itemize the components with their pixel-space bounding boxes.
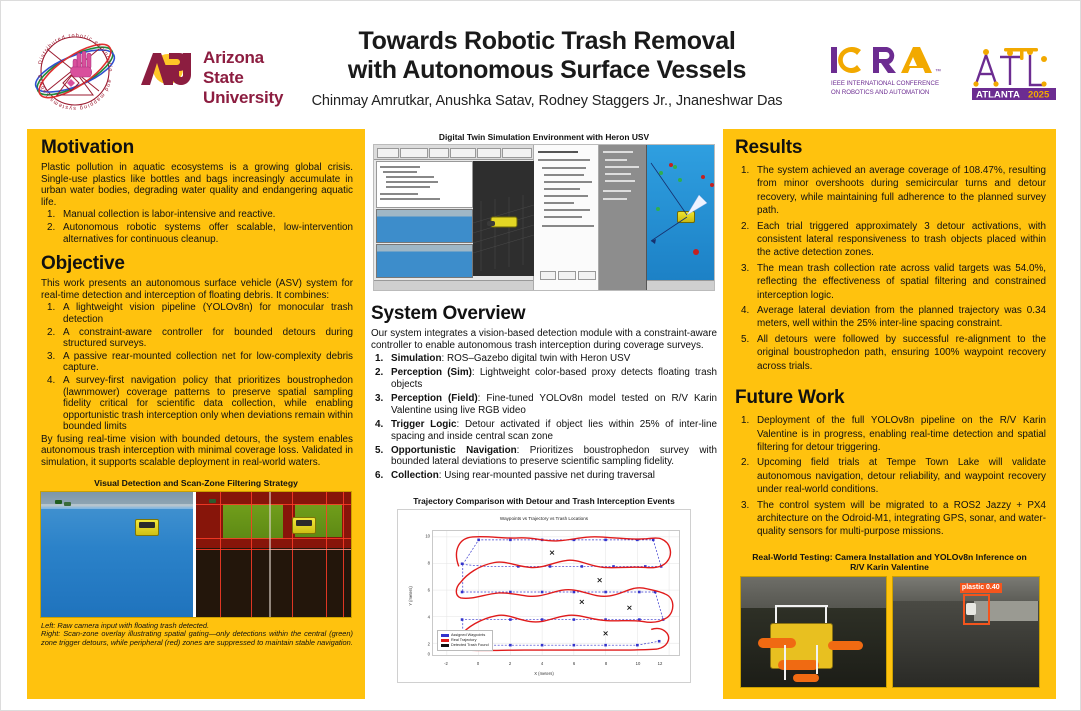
- legend-entry: Detected Trash Found: [441, 643, 489, 648]
- list-item: A lightweight vision pipeline (YOLOv8n) …: [41, 302, 353, 325]
- y-tick: 2: [414, 642, 430, 647]
- sim-figure-caption: Digital Twin Simulation Environment with…: [367, 132, 721, 142]
- atlanta-label: ATLANTA: [976, 89, 1020, 100]
- icra-subtitle-line1: IEEE INTERNATIONAL CONFERENCE: [831, 80, 939, 87]
- y-tick: 6: [414, 588, 430, 593]
- central-green-zone: [223, 504, 282, 539]
- item-label: Collection: [391, 470, 439, 481]
- right-column: Results The system achieved an average c…: [723, 129, 1056, 699]
- list-item: Trigger Logic: Detour activated if objec…: [371, 419, 717, 443]
- list-item: The system achieved an average coverage …: [735, 164, 1046, 218]
- panel-button[interactable]: [558, 271, 576, 280]
- x-tick: 10: [636, 661, 641, 666]
- trash-dot: [64, 502, 71, 506]
- grid-line: [343, 492, 344, 617]
- toolbar-chip: [429, 148, 449, 158]
- chart-ylabel: Y (meters): [408, 587, 413, 606]
- rviz-displays-tree: [376, 161, 473, 208]
- list-item: Deployment of the full YOLOv8n pipeline …: [735, 414, 1046, 454]
- item-label: Trigger Logic: [391, 419, 457, 430]
- detected-trash-object: [135, 519, 159, 536]
- support-strut: [816, 645, 818, 674]
- poster-canvas: Distributed robotic exploration and mapp…: [0, 0, 1081, 711]
- detection-label: plastic 0.40: [960, 583, 1002, 593]
- camera-view-2: [376, 244, 473, 278]
- rviz-status-bar: [374, 280, 533, 290]
- item-label: Perception (Field): [391, 393, 478, 404]
- list-item: A passive rear-mounted collection net fo…: [41, 351, 353, 374]
- future-work-list: Deployment of the full YOLOv8n pipeline …: [735, 414, 1046, 539]
- y-tick: 0: [414, 652, 430, 657]
- trajectory-chart: Waypoints vs Trajectory vs Trash Locatio…: [397, 509, 691, 683]
- svg-text:™: ™: [935, 68, 941, 75]
- legend-label: Detected Trash Found: [451, 643, 489, 648]
- pontoon-float: [758, 638, 796, 648]
- atlanta-2025-logo: ATLANTA 2025: [966, 39, 1061, 101]
- x-tick: 2: [509, 661, 511, 666]
- objective-intro: This work presents an autonomous surface…: [27, 278, 365, 301]
- motivation-heading: Motivation: [27, 129, 365, 162]
- y-tick: 4: [414, 615, 430, 620]
- pontoon-float: [793, 674, 819, 683]
- legend-swatch: [441, 634, 449, 637]
- x-tick: 6: [573, 661, 575, 666]
- list-item: A constraint-aware controller for bounde…: [41, 327, 353, 350]
- icra-subtitle-line2: ON ROBOTICS AND AUTOMATION: [831, 89, 929, 96]
- grid-line: [292, 492, 293, 617]
- panel-button[interactable]: [540, 271, 556, 280]
- visual-detection-figure: [40, 491, 352, 618]
- grid-line: [326, 492, 327, 617]
- gazebo-status-bar: [647, 280, 714, 290]
- toolbar-chip: [377, 148, 399, 158]
- list-item: Perception (Sim): Lightweight color-base…: [371, 367, 717, 391]
- objective-list: A lightweight vision pipeline (YOLOv8n) …: [41, 302, 353, 433]
- item-text: : Using rear-mounted passive net during …: [439, 470, 655, 481]
- toolbar-chip: [450, 148, 476, 158]
- list-item: The control system will be migrated to a…: [735, 499, 1046, 539]
- item-label: Perception (Sim): [391, 367, 472, 378]
- list-item: All detours were followed by successful …: [735, 333, 1046, 373]
- list-item: Manual collection is labor-intensive and…: [41, 209, 353, 221]
- poster-title-line1: Towards Robotic Trash Removal: [277, 27, 817, 56]
- results-list: The system achieved an average coverage …: [735, 164, 1046, 373]
- list-item: Upcoming field trials at Tempe Town Lake…: [735, 456, 1046, 496]
- left-column: Motivation Plastic pollution in aquatic …: [27, 129, 365, 699]
- scan-zone-overlay-image: [193, 492, 352, 617]
- list-item: The mean trash collection rate across va…: [735, 262, 1046, 302]
- real-world-testing-figure: plastic 0.40: [740, 576, 1040, 688]
- camera-crossbar: [775, 605, 827, 607]
- list-item: Collection: Using rear-mounted passive n…: [371, 470, 717, 482]
- grid-line: [196, 504, 352, 505]
- grid-line: [196, 538, 352, 539]
- system-overview-list: Simulation: ROS–Gazebo digital twin with…: [371, 353, 717, 482]
- x-tick: -2: [444, 661, 448, 666]
- list-item: Autonomous robotic systems offer scalabl…: [41, 222, 353, 245]
- visual-detection-subcaption-right: Right: Scan-zone overlay illustrating sp…: [41, 630, 353, 647]
- results-heading: Results: [723, 129, 1056, 162]
- dreams-lab-logo: Distributed robotic exploration and mapp…: [27, 23, 123, 119]
- list-item: Each trial triggered approximately 3 det…: [735, 220, 1046, 260]
- x-tick: 4: [541, 661, 543, 666]
- rviz-toolbar: [374, 145, 533, 160]
- properties-panel: [534, 145, 599, 290]
- future-work-heading: Future Work: [723, 375, 1056, 412]
- toolbar-chip: [477, 148, 501, 158]
- objective-outro: By fusing real-time vision with bounded …: [27, 434, 365, 469]
- y-tick: 10: [414, 534, 430, 539]
- motivation-paragraph: Plastic pollution in aquatic ecosystems …: [27, 162, 365, 208]
- poster-title: Towards Robotic Trash Removal with Auton…: [277, 27, 817, 85]
- camera-view-1: [376, 209, 473, 243]
- motivation-list: Manual collection is labor-intensive and…: [41, 209, 353, 245]
- pontoon-float: [828, 641, 863, 651]
- chart-title: Waypoints vs Trajectory vs Trash Locatio…: [398, 516, 690, 521]
- poster-header: Distributed robotic exploration and mapp…: [9, 7, 1072, 125]
- item-text: : ROS–Gazebo digital twin with Heron USV: [441, 353, 630, 364]
- title-block: Towards Robotic Trash Removal with Auton…: [277, 27, 817, 109]
- vessel-photo: [740, 576, 888, 688]
- rviz-panel: [374, 145, 534, 290]
- poster-authors: Chinmay Amrutkar, Anushka Satav, Rodney …: [277, 93, 817, 109]
- trash-dot: [209, 499, 216, 503]
- atlanta-year: 2025: [1028, 89, 1050, 100]
- grid-line: [251, 492, 252, 617]
- chart-xlabel: X (meters): [398, 671, 690, 676]
- legend-swatch: [441, 639, 449, 642]
- trajectory-figure-caption: Trajectory Comparison with Detour and Tr…: [367, 496, 721, 506]
- x-tick: 8: [605, 661, 607, 666]
- support-strut: [784, 645, 786, 680]
- list-item: Perception (Field): Fine-tuned YOLOv8n m…: [371, 393, 717, 417]
- detected-trash-object: [292, 517, 316, 534]
- x-tick: 0: [477, 661, 479, 666]
- trash-dot: [55, 500, 62, 504]
- item-label: Simulation: [391, 353, 441, 364]
- panel-button[interactable]: [578, 271, 596, 280]
- chart-plot-area: Assigned Waypoints Real Trajectory Detec…: [432, 530, 680, 656]
- real-world-caption-line2: R/V Karin Valentine: [723, 562, 1056, 572]
- gazebo-3d-viewport: [647, 145, 714, 290]
- toolbar-chip: [400, 148, 428, 158]
- grid-line: [269, 549, 351, 550]
- list-item: Average lateral deviation from the plann…: [735, 304, 1046, 331]
- detected-plastic-object: [966, 603, 976, 615]
- icra-logo: ™ IEEE INTERNATIONAL CONFERENCE ON ROBOT…: [827, 43, 955, 99]
- svg-text:Distributed robotic exploratio: Distributed robotic exploration: [27, 23, 113, 72]
- objective-heading: Objective: [27, 246, 365, 278]
- x-tick: 12: [658, 661, 663, 666]
- poster-title-line2: with Autonomous Surface Vessels: [277, 56, 817, 85]
- rviz-3d-view: [473, 161, 534, 276]
- real-world-caption-line1: Real-World Testing: Camera Installation …: [723, 552, 1056, 562]
- list-item: A survey-first navigation policy that pr…: [41, 375, 353, 433]
- legend-swatch: [441, 644, 449, 647]
- grid-line: [269, 492, 271, 617]
- raw-camera-image: [41, 492, 193, 617]
- toolbar-chip: [502, 148, 532, 158]
- yolo-inference-photo: plastic 0.40: [892, 576, 1040, 688]
- gazebo-world-tree: [599, 145, 647, 290]
- list-item: Opportunistic Navigation: Prioritizes bo…: [371, 445, 717, 469]
- digital-twin-simulation-figure: [373, 144, 715, 291]
- system-overview-heading: System Overview: [367, 299, 721, 328]
- visual-detection-caption: Visual Detection and Scan-Zone Filtering…: [27, 478, 365, 488]
- y-tick: 8: [414, 561, 430, 566]
- real-world-figure-caption: Real-World Testing: Camera Installation …: [723, 552, 1056, 572]
- middle-column: Digital Twin Simulation Environment with…: [367, 129, 721, 699]
- system-overview-intro: Our system integrates a vision-based det…: [367, 328, 721, 351]
- grid-line: [220, 492, 221, 617]
- list-item: Simulation: ROS–Gazebo digital twin with…: [371, 353, 717, 365]
- lower-dark-zone: [196, 548, 352, 617]
- asu-pitchfork-mark: [139, 49, 197, 89]
- item-label: Opportunistic Navigation: [391, 445, 517, 456]
- chart-legend: Assigned Waypoints Real Trajectory Detec…: [437, 630, 493, 651]
